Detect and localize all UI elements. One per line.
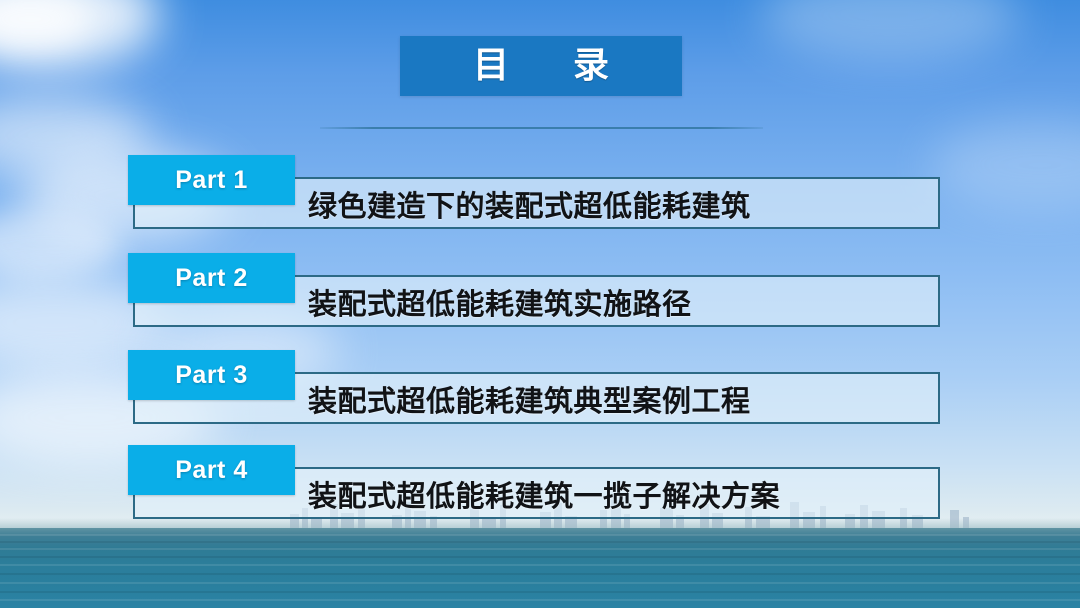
toc-row-label: 装配式超低能耗建筑实施路径	[308, 277, 692, 327]
toc-row-badge-label: Part 4	[175, 458, 247, 483]
toc-row-label: 装配式超低能耗建筑典型案例工程	[308, 374, 751, 424]
toc-row-badge[interactable]: Part 4	[128, 445, 295, 495]
slide-canvas: 目 录 绿色建造下的装配式超低能耗建筑 Part 1 装配式超低能耗建筑实施路径…	[0, 0, 1080, 608]
title-divider	[320, 127, 763, 129]
cloud-shape	[760, 0, 1020, 60]
page-title-banner: 目 录	[400, 36, 682, 96]
toc-row-badge-label: Part 3	[175, 363, 247, 388]
sea-background	[0, 528, 1080, 608]
toc-row-badge-label: Part 2	[175, 266, 247, 291]
toc-row-badge[interactable]: Part 3	[128, 350, 295, 400]
toc-row-badge[interactable]: Part 1	[128, 155, 295, 205]
toc-row-label: 装配式超低能耗建筑一揽子解决方案	[308, 469, 780, 519]
toc-row-badge-label: Part 1	[175, 168, 247, 193]
page-title: 目 录	[459, 48, 623, 84]
toc-row-badge[interactable]: Part 2	[128, 253, 295, 303]
toc-row-label: 绿色建造下的装配式超低能耗建筑	[308, 179, 751, 229]
cloud-shape	[930, 120, 1080, 210]
